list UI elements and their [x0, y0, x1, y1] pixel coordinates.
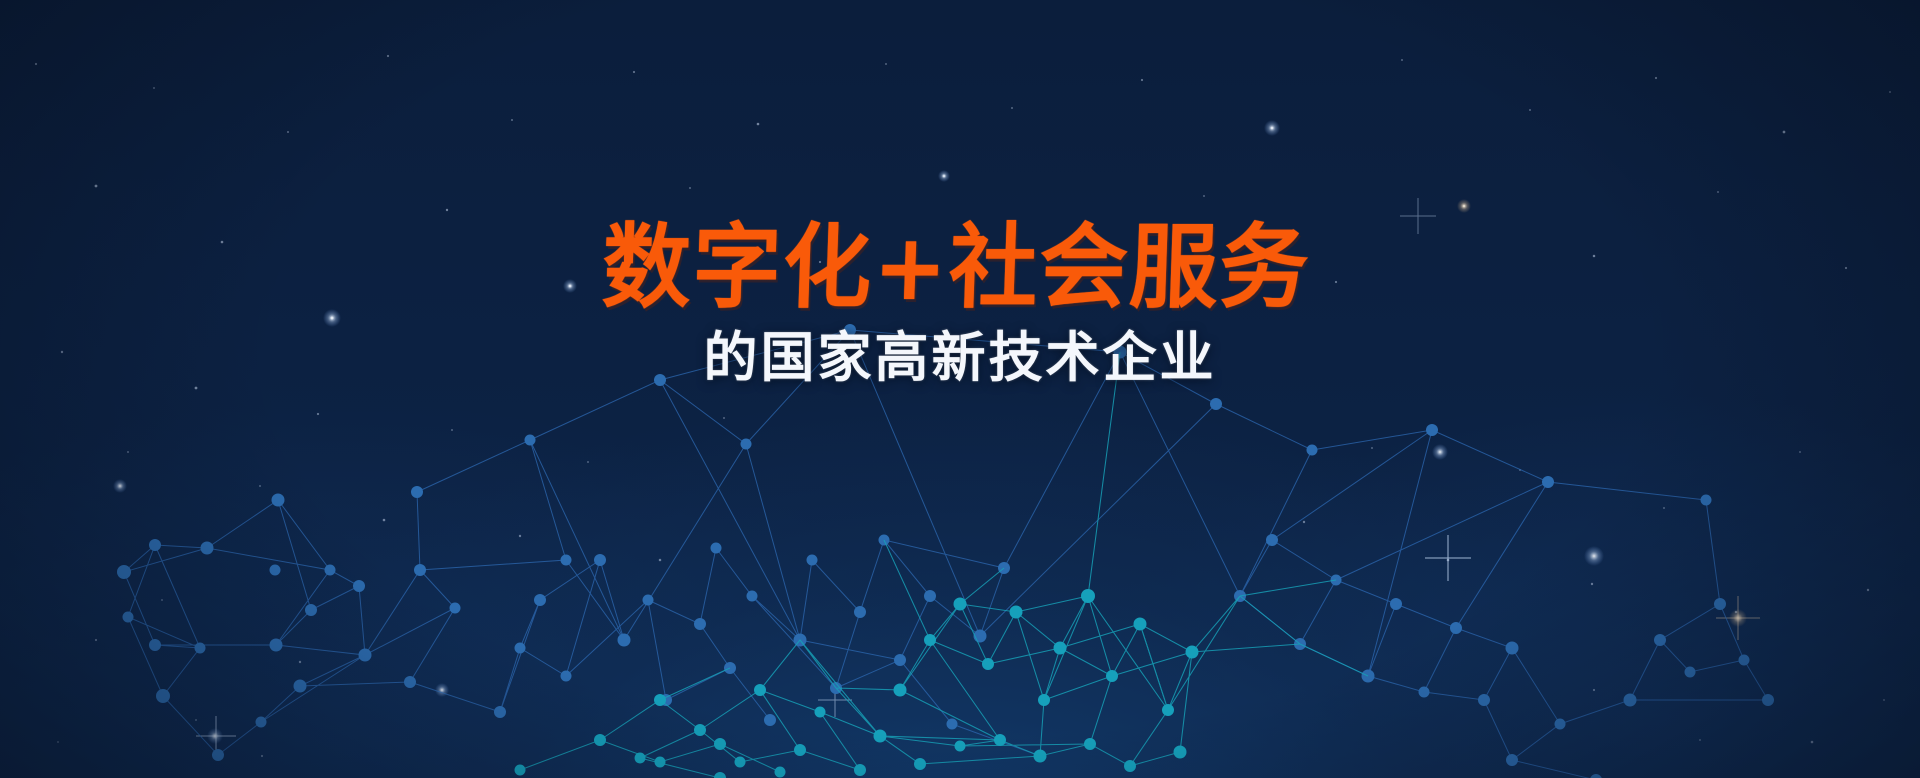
hero-text-block: 数字化+社会服务 的国家高新技术企业	[0, 0, 1920, 387]
network-nodes-front	[515, 589, 1199, 778]
page-subtitle: 的国家高新技术企业	[0, 314, 1920, 387]
banner-hero: 数字化+社会服务 的国家高新技术企业	[0, 0, 1920, 778]
page-title: 数字化+社会服务	[33, 0, 1887, 314]
network-edges-front	[520, 352, 1368, 778]
